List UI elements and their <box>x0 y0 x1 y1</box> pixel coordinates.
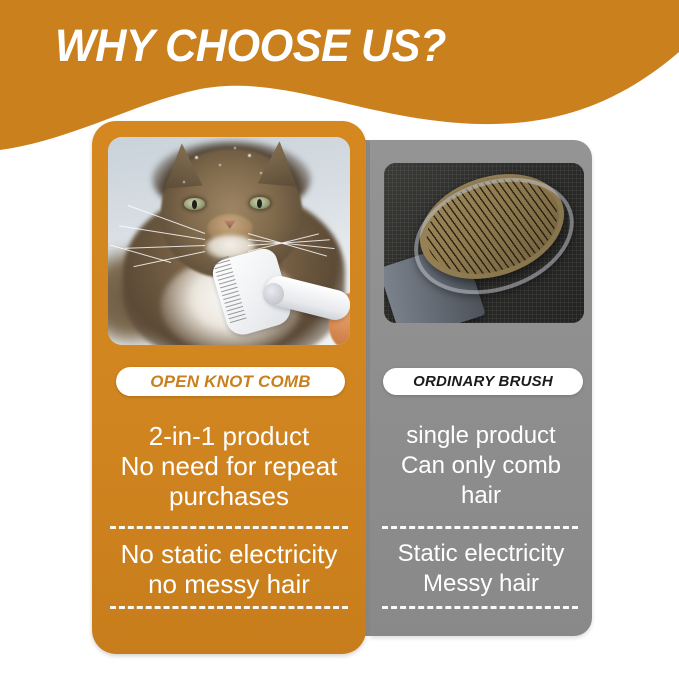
left-feature-2: No static electricity no messy hair <box>96 539 362 599</box>
right-divider-2 <box>382 606 578 609</box>
ordinary-brush-badge: ORDINARY BRUSH <box>383 368 583 395</box>
right-feature-1-line-2: Can only comb <box>374 451 588 481</box>
cat-pupil-left <box>192 200 197 209</box>
right-feature-1-line-3: hair <box>374 481 588 511</box>
left-feature-1-line-3: purchases <box>96 481 362 511</box>
right-divider-1 <box>382 526 578 529</box>
cat-being-brushed-photo <box>108 137 350 345</box>
open-knot-comb-badge-label: OPEN KNOT COMB <box>150 372 311 392</box>
left-divider-2 <box>110 606 348 609</box>
infographic-canvas: WHY CHOOSE US? <box>0 0 679 679</box>
right-feature-2-line-2: Messy hair <box>374 569 588 599</box>
ordinary-brush-badge-label: ORDINARY BRUSH <box>413 373 553 390</box>
open-knot-comb-badge: OPEN KNOT COMB <box>116 367 345 396</box>
left-feature-1: 2-in-1 product No need for repeat purcha… <box>96 421 362 511</box>
snow-speck <box>195 156 198 159</box>
page-title: WHY CHOOSE US? <box>55 22 446 70</box>
open-knot-comb-in-photo <box>219 253 350 345</box>
right-feature-2-line-1: Static electricity <box>374 539 588 569</box>
left-divider-1 <box>110 526 348 529</box>
snow-speck <box>183 181 185 183</box>
left-feature-1-line-2: No need for repeat <box>96 451 362 481</box>
ordinary-slicker-brush-photo <box>384 163 584 323</box>
right-feature-1: single product Can only comb hair <box>374 421 588 511</box>
left-feature-1-line-1: 2-in-1 product <box>96 421 362 451</box>
left-feature-2-line-1: No static electricity <box>96 539 362 569</box>
right-feature-1-line-1: single product <box>374 421 588 451</box>
right-feature-2: Static electricity Messy hair <box>374 539 588 599</box>
left-feature-2-line-2: no messy hair <box>96 569 362 599</box>
